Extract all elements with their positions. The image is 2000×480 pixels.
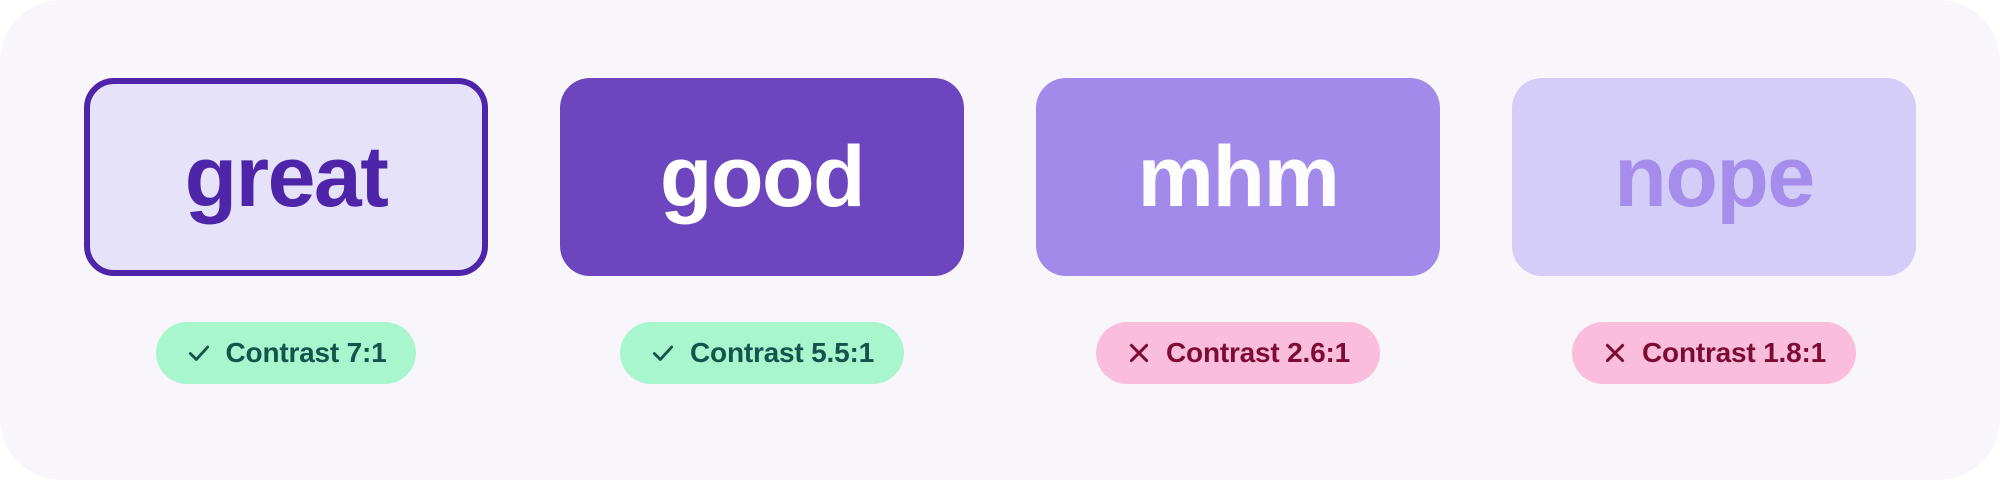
swatch-card-mhm[interactable]: mhm (1036, 78, 1440, 276)
swatch-card-nope[interactable]: nope (1512, 78, 1916, 276)
swatch-label-mhm: mhm (1138, 134, 1339, 220)
swatch-column-good: good Contrast 5.5:1 (560, 78, 964, 384)
swatch-column-mhm: mhm Contrast 2.6:1 (1036, 78, 1440, 384)
swatch-column-nope: nope Contrast 1.8:1 (1512, 78, 1916, 384)
contrast-badge-text: Contrast 7:1 (226, 339, 387, 367)
swatch-card-great[interactable]: great (84, 78, 488, 276)
contrast-badge-good: Contrast 5.5:1 (620, 322, 904, 384)
swatch-label-nope: nope (1614, 134, 1813, 220)
contrast-badge-text: Contrast 2.6:1 (1166, 339, 1350, 367)
contrast-badge-text: Contrast 5.5:1 (690, 339, 874, 367)
contrast-badge-text: Contrast 1.8:1 (1642, 339, 1826, 367)
swatch-grid: great Contrast 7:1 good (84, 78, 1916, 384)
contrast-badge-nope: Contrast 1.8:1 (1572, 322, 1856, 384)
check-icon (186, 340, 212, 366)
swatch-card-good[interactable]: good (560, 78, 964, 276)
contrast-swatch-panel: great Contrast 7:1 good (0, 0, 2000, 480)
swatch-label-great: great (185, 134, 388, 220)
swatch-column-great: great Contrast 7:1 (84, 78, 488, 384)
contrast-badge-mhm: Contrast 2.6:1 (1096, 322, 1380, 384)
contrast-badge-great: Contrast 7:1 (156, 322, 417, 384)
cross-icon (1126, 340, 1152, 366)
swatch-label-good: good (660, 134, 864, 220)
cross-icon (1602, 340, 1628, 366)
check-icon (650, 340, 676, 366)
